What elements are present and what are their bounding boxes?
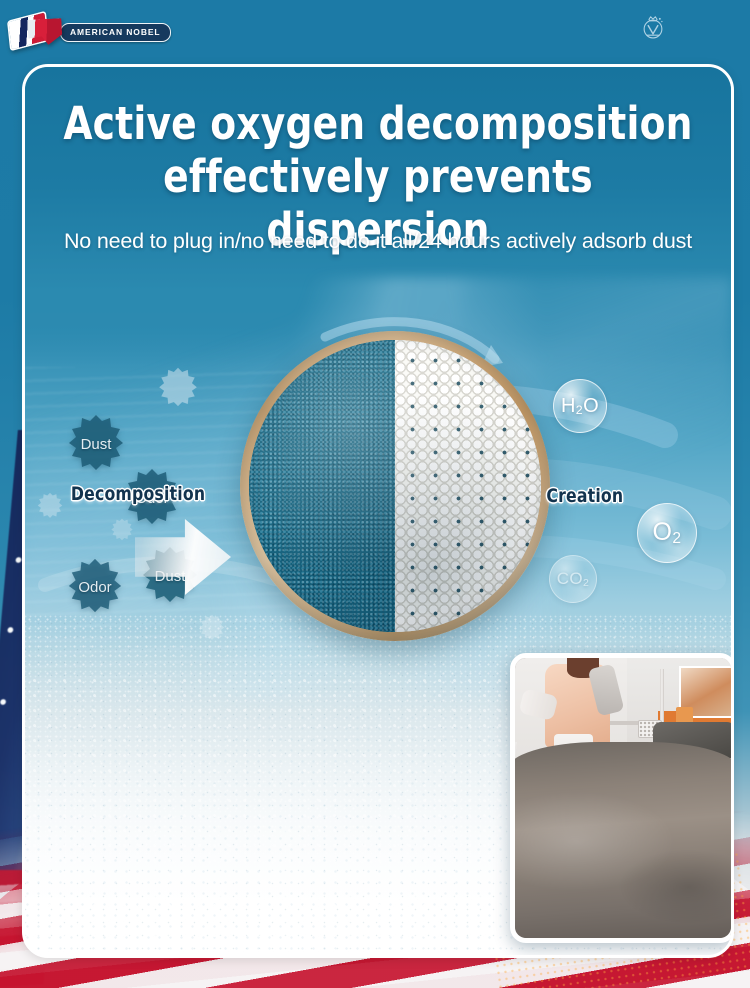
oxygen-formula: O2 (653, 518, 682, 548)
oxygen-bubble: O2 (637, 503, 697, 563)
brand-name-label: AMERICAN NOBEL (70, 27, 161, 37)
dust-particle-small-2 (35, 491, 65, 521)
banner-header: AMERICAN NOBEL (0, 0, 750, 66)
dust-particle-1-label: Dust (63, 413, 129, 475)
content-card: Active oxygen decomposition effectively … (22, 64, 734, 958)
brand-name-pill: AMERICAN NOBEL (60, 23, 171, 42)
award-crest-icon (639, 12, 667, 42)
white-beads-half (395, 340, 541, 632)
bead-bowl-contents (249, 340, 541, 632)
decomposition-label: Decomposition (71, 483, 205, 505)
water-bubble: H2O (553, 379, 607, 433)
dust-particle-small-1 (155, 365, 201, 411)
brand-logo[interactable]: AMERICAN NOBEL (8, 14, 171, 50)
usa-flag-icon (8, 15, 64, 49)
dust-particle-small-4 (197, 613, 227, 643)
photo-bedsheet-folds (515, 742, 731, 943)
photo-art-figure (676, 707, 693, 724)
carbon-dioxide-bubble: CO2 (549, 555, 597, 603)
dust-particle-small-3 (109, 517, 135, 543)
blue-beads-half (249, 340, 395, 632)
odor-particle-2-label: Odor (63, 557, 127, 617)
bead-bowl-image (240, 331, 550, 641)
person-making-bed-photo[interactable] (510, 653, 734, 943)
odor-particle-2: Odor (63, 557, 127, 617)
product-banner: AMERICAN NOBEL (0, 0, 750, 988)
page-subtitle: No need to plug in/no need to do it all/… (25, 229, 731, 254)
carbon-dioxide-formula: CO2 (557, 569, 590, 589)
creation-label: Creation (546, 485, 623, 507)
headline-line-1: Active oxygen decomposition (50, 97, 707, 150)
dust-particle-1: Dust (63, 413, 129, 475)
water-formula: H2O (561, 395, 599, 418)
